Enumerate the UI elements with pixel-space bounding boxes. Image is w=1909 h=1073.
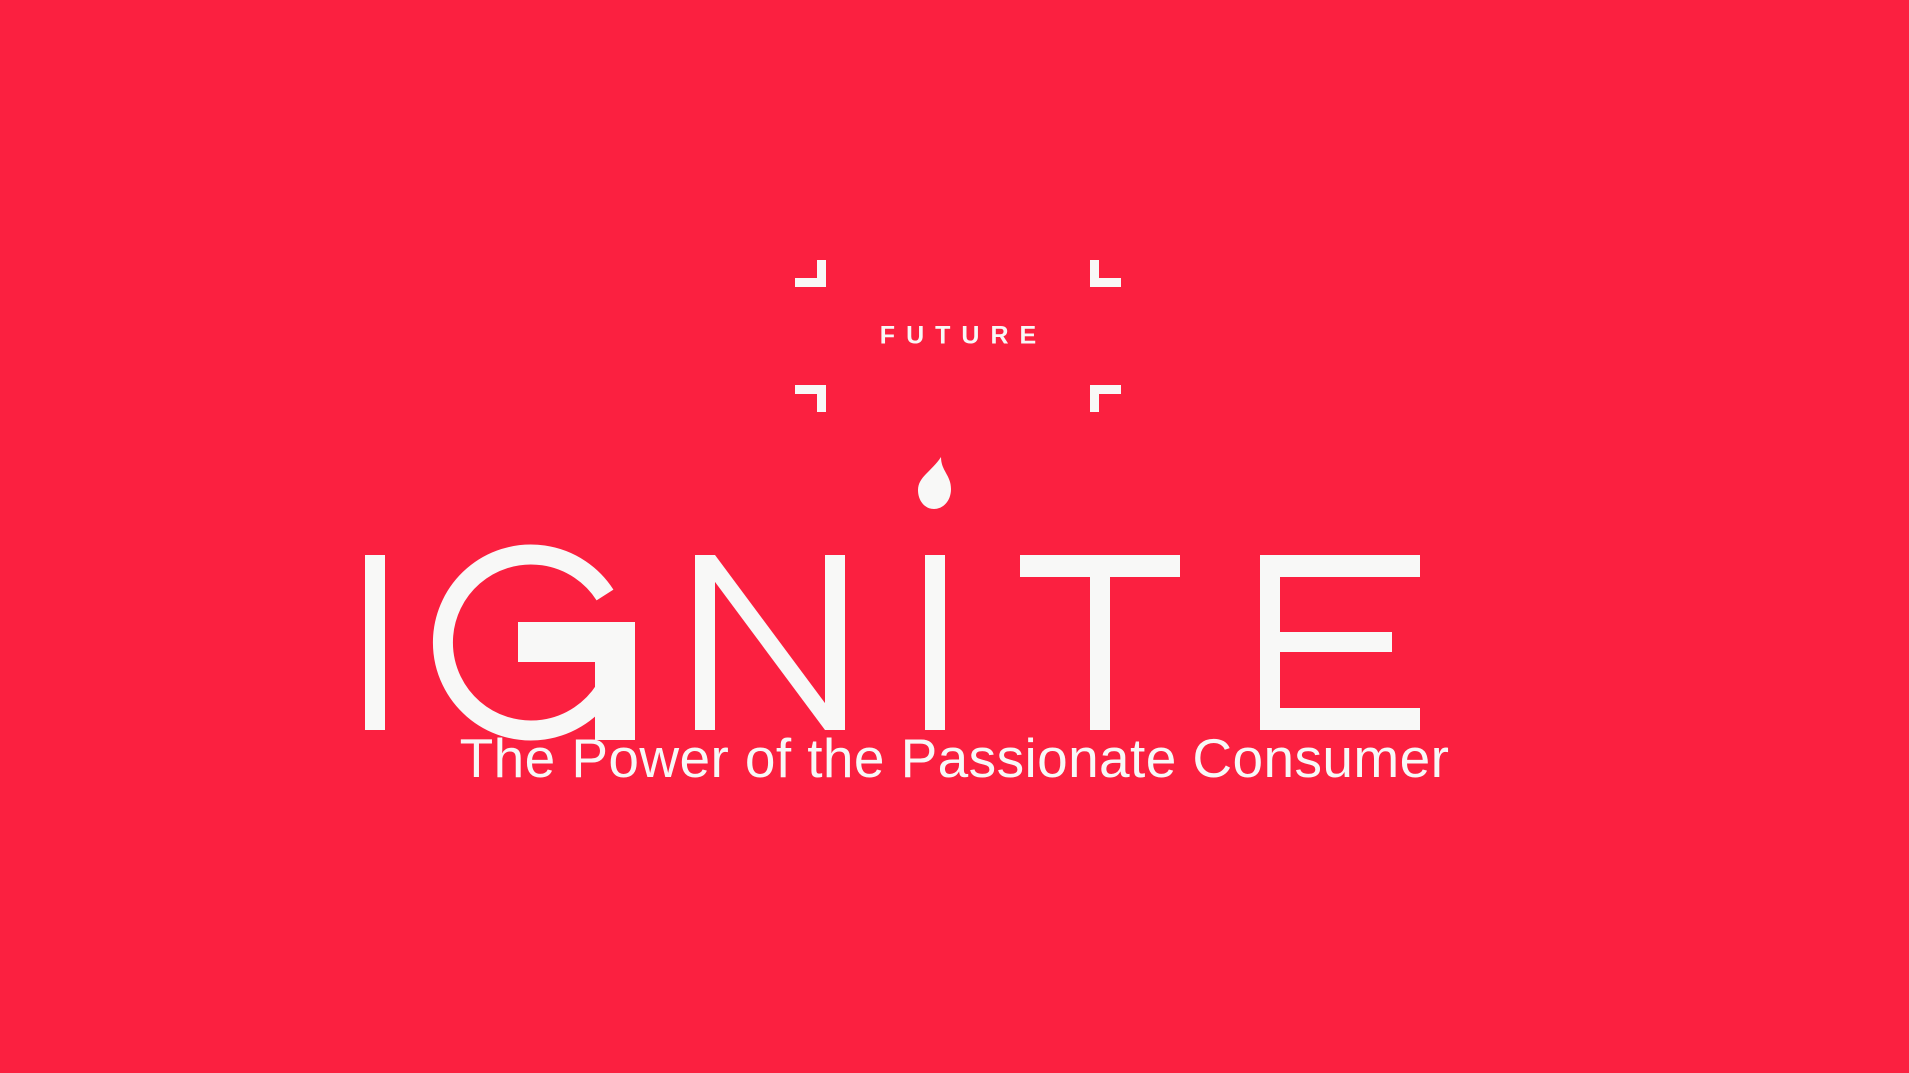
title-block: The Power of the Passionate Consumer [0,500,1909,788]
future-logo-lockup: FUTURE [795,260,1121,412]
flame-icon [917,455,957,517]
letter-N [695,555,845,730]
letter-I-2 [925,555,945,730]
letter-G [442,555,624,731]
letter-E [1260,555,1420,730]
corner-bracket-bottom-right-icon [1090,385,1121,412]
ignite-wordmark-svg [365,500,1545,730]
ignite-wordmark [365,500,1545,730]
letter-I-1 [365,555,385,730]
title-slide: FUTURE [0,0,1909,1073]
corner-bracket-top-right-icon [1090,260,1121,287]
corner-bracket-top-left-icon [795,260,826,287]
publisher-name: FUTURE [795,324,1121,349]
letter-T [1020,555,1180,730]
corner-bracket-bottom-left-icon [795,385,826,412]
